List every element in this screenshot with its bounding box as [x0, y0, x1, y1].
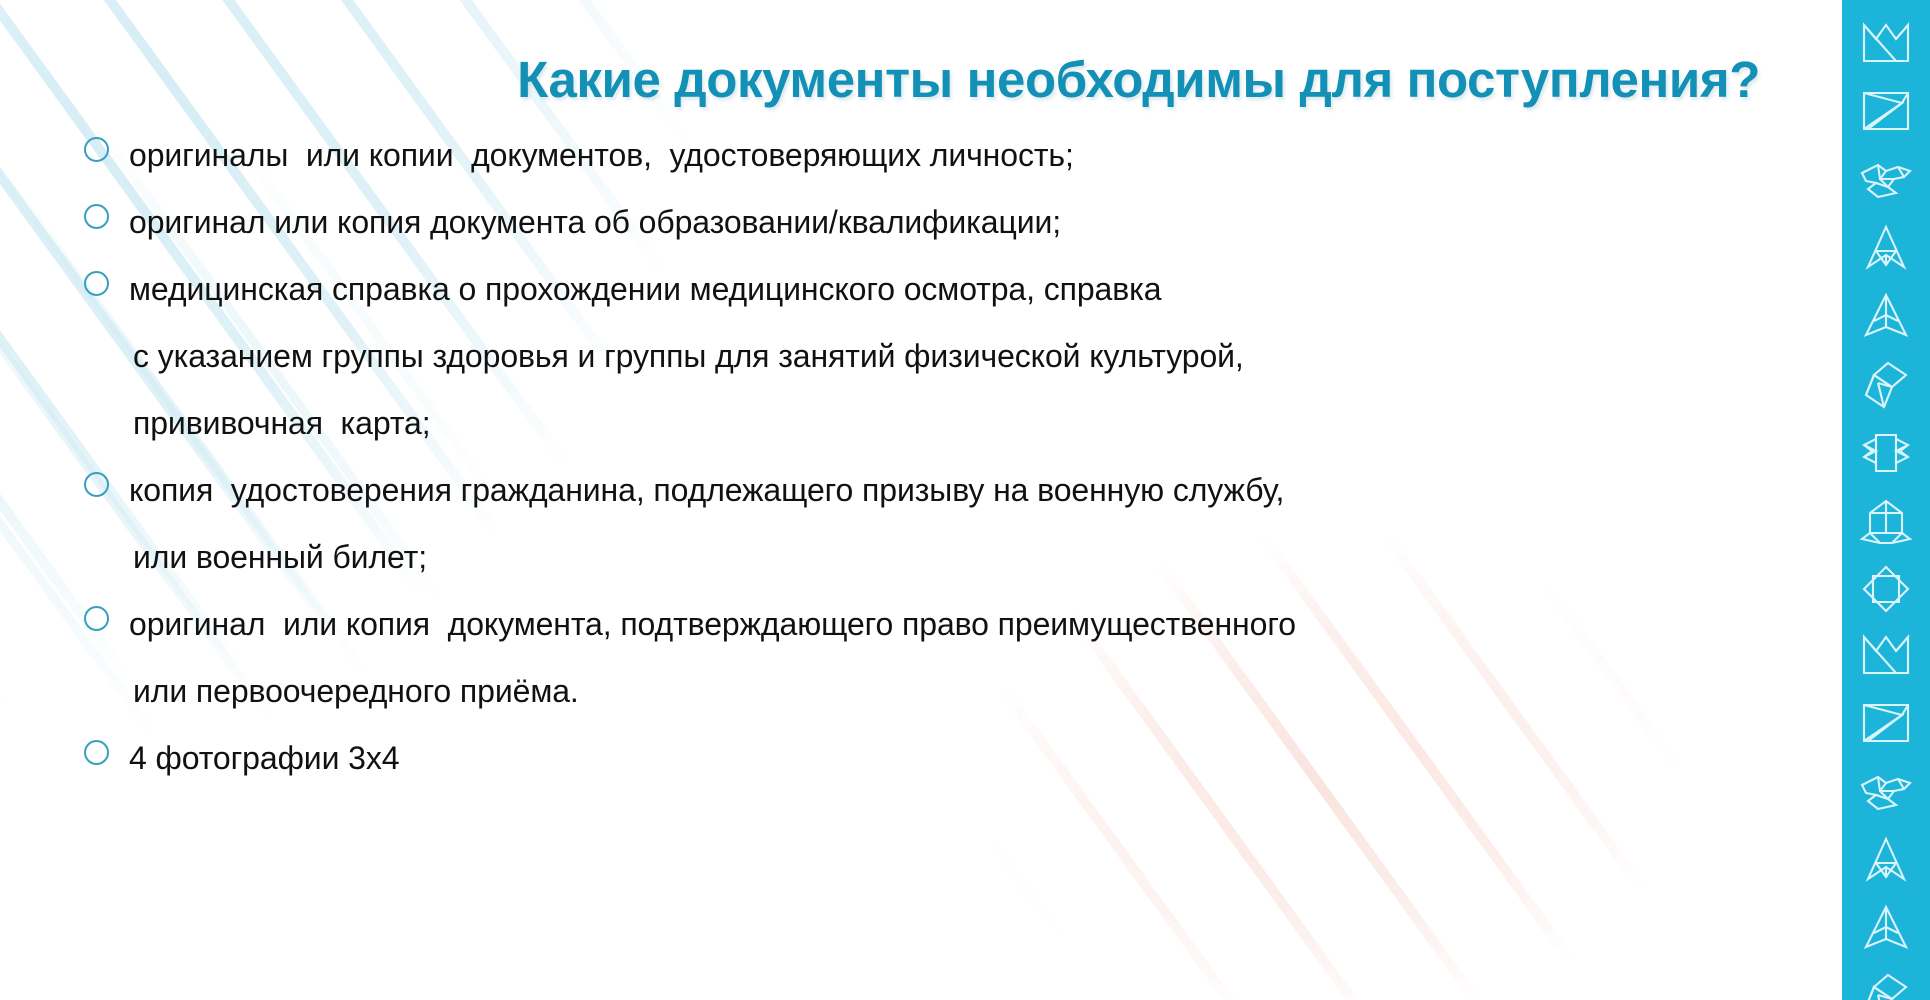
document-requirements-list: оригиналы или копии документов, удостове…: [80, 122, 1820, 792]
list-item-line: медицинская справка о прохождении медици…: [129, 256, 1820, 323]
slide-canvas: Какие документы необходимы для поступлен…: [0, 0, 1930, 1000]
list-item: медицинская справка о прохождении медици…: [80, 256, 1820, 457]
origami-star-icon: [1858, 830, 1914, 892]
list-item: 4 фотографии 3х4: [80, 725, 1820, 792]
list-item-line: или первоочередного приёма.: [129, 658, 1820, 725]
list-item-line: прививочная карта;: [129, 390, 1820, 457]
origami-star-icon: [1858, 218, 1914, 280]
list-item: копия удостоверения гражданина, подлежащ…: [80, 457, 1820, 591]
origami-fox-icon: [1858, 14, 1914, 76]
origami-lantern-icon: [1858, 490, 1914, 552]
list-item-line: или военный билет;: [129, 524, 1820, 591]
list-item: оригинал или копия документа, подтвержда…: [80, 591, 1820, 725]
origami-ribbon-icon: [1858, 354, 1914, 416]
origami-bird-icon: [1858, 762, 1914, 824]
origami-ribbon-icon: [1858, 966, 1914, 1000]
list-item: оригинал или копия документа об образова…: [80, 189, 1820, 256]
list-item-line: 4 фотографии 3х4: [129, 725, 1820, 792]
origami-envelope-icon: [1858, 694, 1914, 756]
slide-content: Какие документы необходимы для поступлен…: [0, 0, 1842, 1000]
origami-scroll-icon: [1858, 422, 1914, 484]
origami-arrow-icon: [1858, 286, 1914, 348]
list-item-line: с указанием группы здоровья и группы для…: [129, 323, 1820, 390]
origami-envelope-icon: [1858, 82, 1914, 144]
hollow-circle-icon: [84, 606, 109, 631]
list-item-line: оригинал или копия документа об образова…: [129, 189, 1820, 256]
hollow-circle-icon: [84, 271, 109, 296]
origami-bird-icon: [1858, 150, 1914, 212]
decorative-sidebar: [1842, 0, 1930, 1000]
list-item-line: копия удостоверения гражданина, подлежащ…: [129, 457, 1820, 524]
page-title: Какие документы необходимы для поступлен…: [0, 50, 1760, 109]
hollow-circle-icon: [84, 472, 109, 497]
list-item-line: оригиналы или копии документов, удостове…: [129, 122, 1820, 189]
list-item: оригиналы или копии документов, удостове…: [80, 122, 1820, 189]
list-item-line: оригинал или копия документа, подтвержда…: [129, 591, 1820, 658]
hollow-circle-icon: [84, 204, 109, 229]
origami-fox-icon: [1858, 626, 1914, 688]
origami-diamond-icon: [1858, 558, 1914, 620]
hollow-circle-icon: [84, 137, 109, 162]
hollow-circle-icon: [84, 740, 109, 765]
origami-arrow-icon: [1858, 898, 1914, 960]
